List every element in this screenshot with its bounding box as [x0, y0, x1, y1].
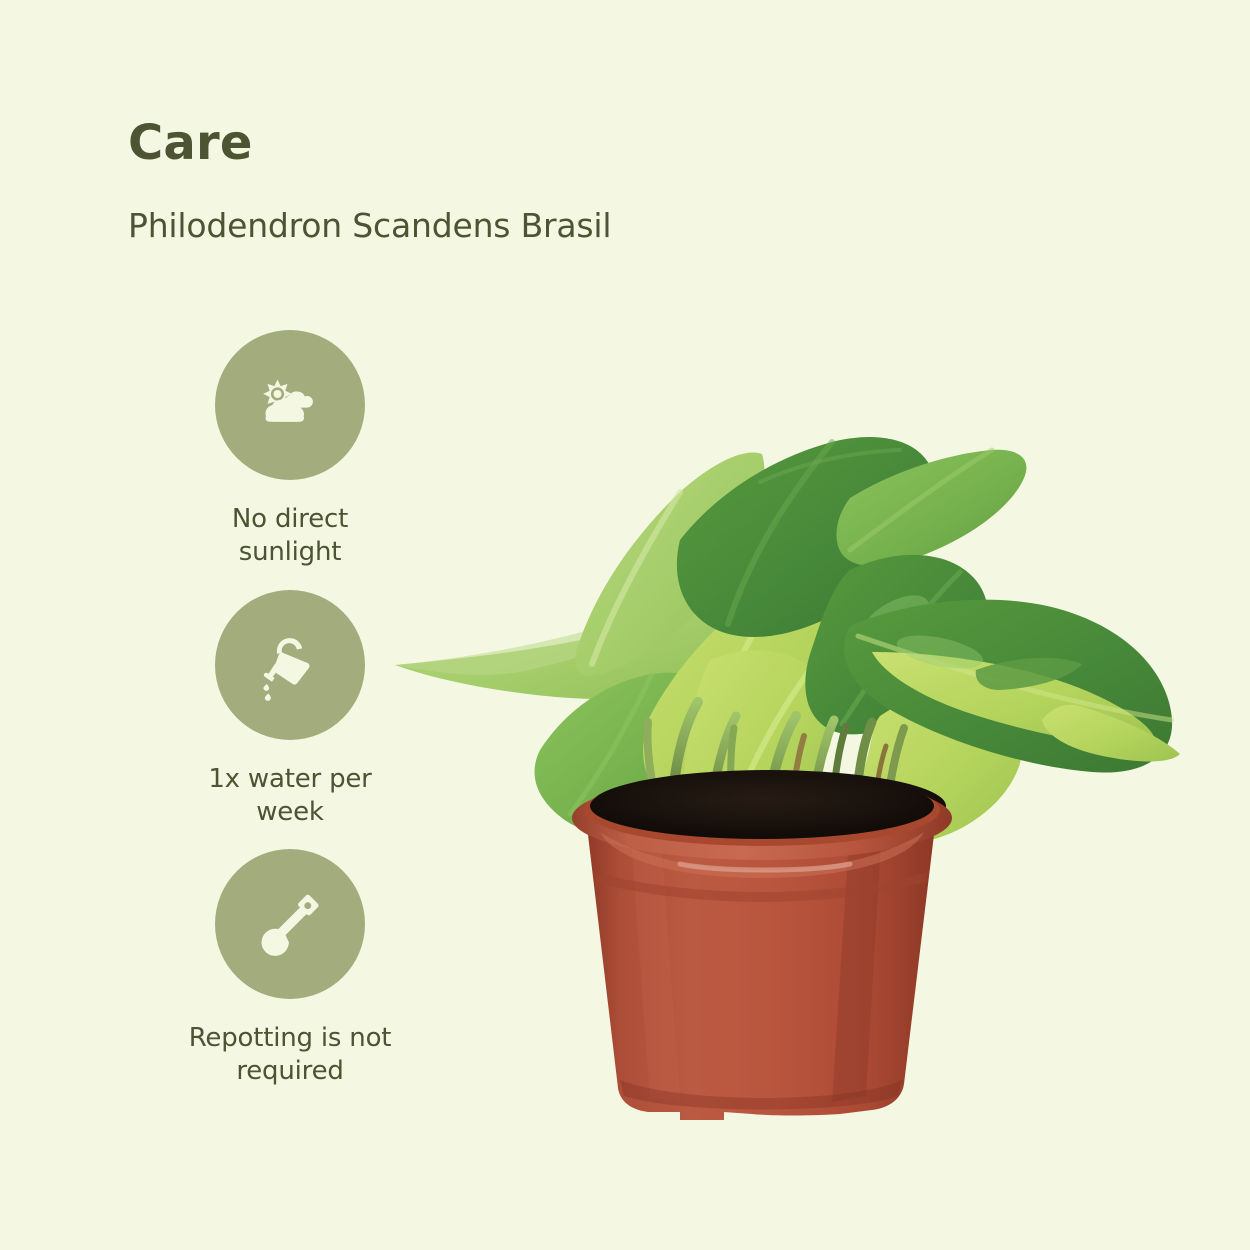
product-photo-philodendron: [380, 420, 1200, 1150]
care-icon-circle-repotting: [215, 849, 365, 999]
page-title: Care: [128, 118, 828, 168]
heading-block: Care Philodendron Scandens Brasil: [128, 118, 828, 245]
care-icon-circle-watering: [215, 590, 365, 740]
shovel-icon: [253, 887, 327, 961]
sun-behind-cloud-icon: [252, 367, 328, 443]
nursery-pot: [572, 773, 952, 1120]
care-info-card: Care Philodendron Scandens Brasil: [0, 0, 1250, 1250]
watering-can-icon: [251, 626, 329, 704]
page-subtitle: Philodendron Scandens Brasil: [128, 168, 828, 244]
care-icon-circle-sunlight: [215, 330, 365, 480]
